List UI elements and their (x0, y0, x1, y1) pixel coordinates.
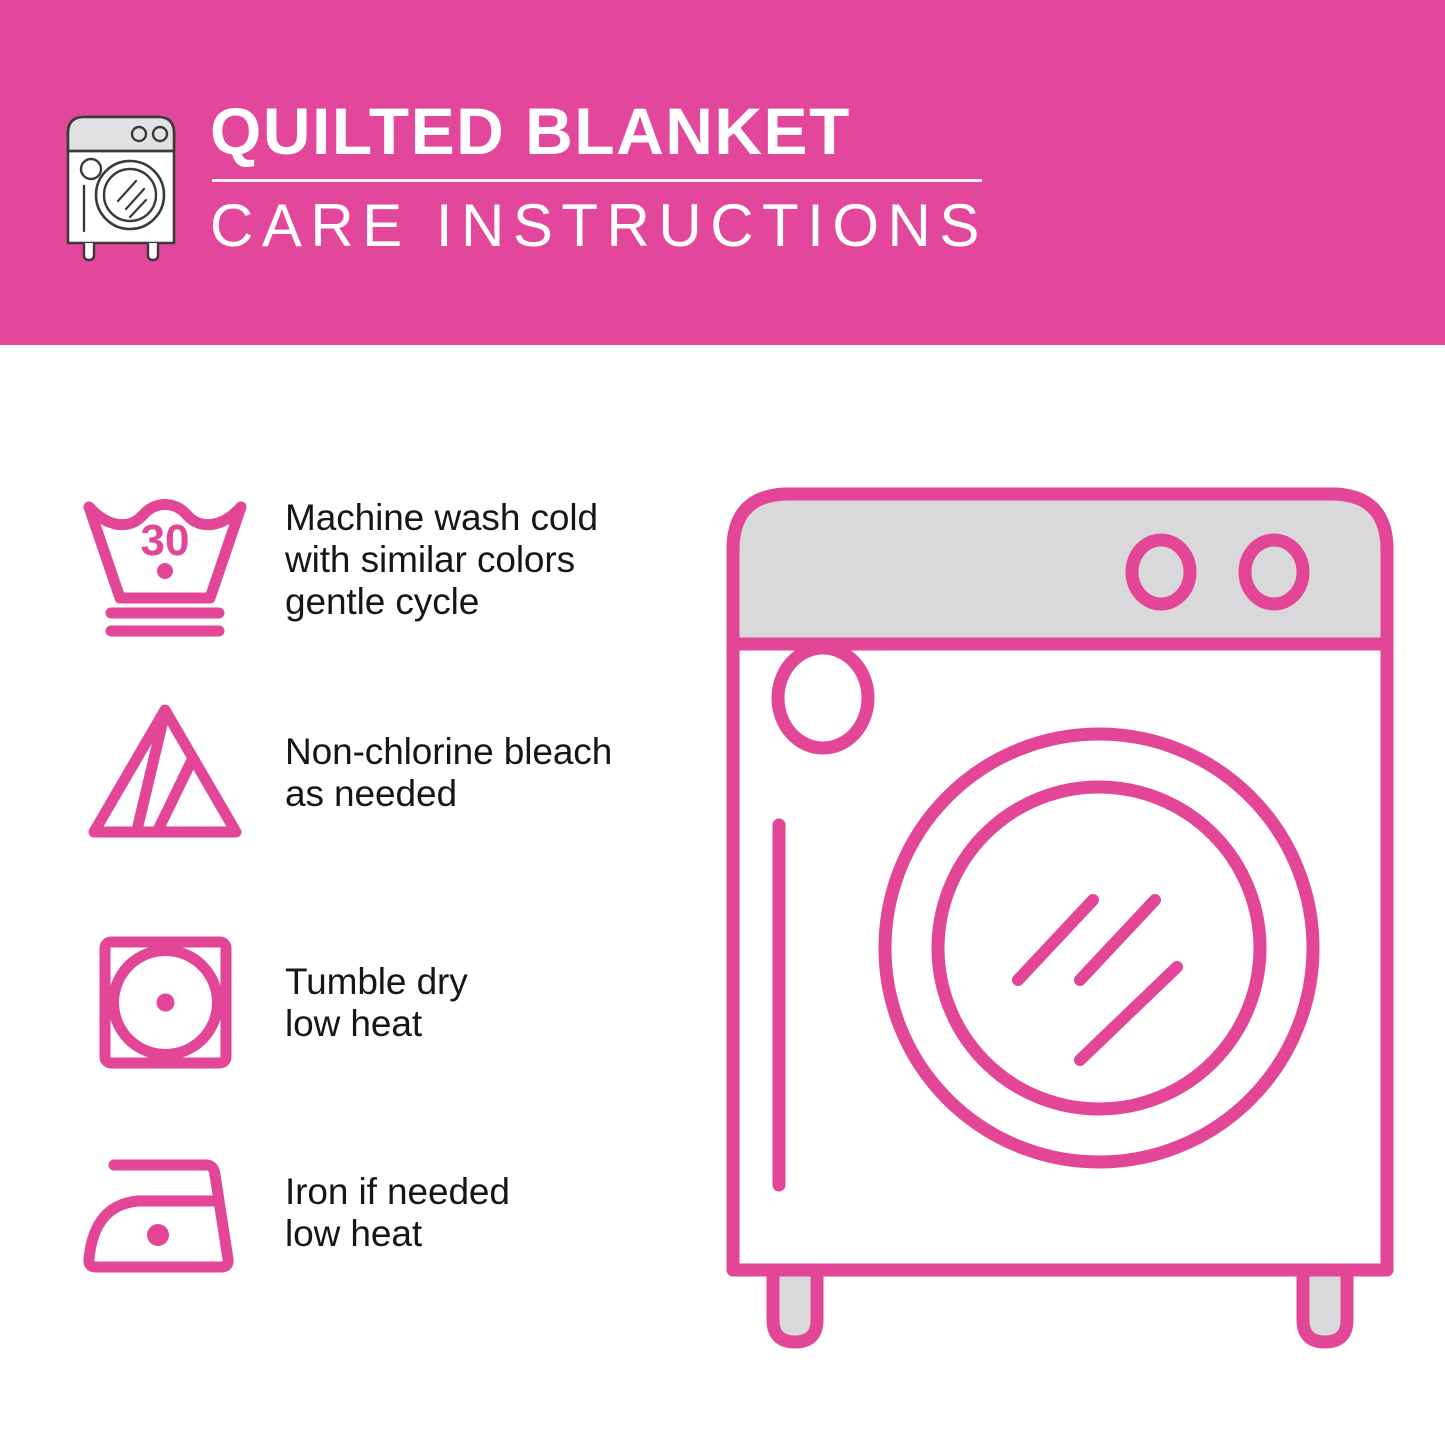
care-row: Non-chlorine bleach as needed (70, 685, 690, 860)
care-text-line: Machine wash cold (285, 497, 598, 539)
header-content: QUILTED BLANKET CARE INSTRUCTIONS (60, 95, 988, 263)
tumble-dry-low-heat-icon (70, 930, 260, 1075)
header-text-block: QUILTED BLANKET CARE INSTRUCTIONS (210, 95, 988, 260)
care-row: Iron if needed low heat (70, 1130, 690, 1295)
top-control-panel (733, 494, 1387, 644)
care-text-block: Non-chlorine bleach as needed (285, 731, 612, 815)
washing-machine-icon (60, 103, 182, 263)
front-load-washing-machine-illustration (725, 480, 1395, 1370)
care-text-line: gentle cycle (285, 581, 598, 623)
care-text-block: Iron if needed low heat (285, 1171, 510, 1255)
wash-temperature-value: 30 (141, 516, 190, 565)
care-text-line: Iron if needed (285, 1171, 510, 1213)
care-text-block: Machine wash cold with similar colors ge… (285, 497, 598, 623)
care-text-line: low heat (285, 1003, 468, 1045)
care-text-line: as needed (285, 773, 612, 815)
page-title: QUILTED BLANKET (210, 95, 988, 167)
page-header: QUILTED BLANKET CARE INSTRUCTIONS (0, 0, 1445, 345)
care-instructions-page: QUILTED BLANKET CARE INSTRUCTIONS 30 (0, 0, 1445, 1445)
care-text-block: Tumble dry low heat (285, 961, 468, 1045)
care-text-line: Non-chlorine bleach (285, 731, 612, 773)
leg-right (1303, 1270, 1347, 1342)
care-text-line: low heat (285, 1213, 510, 1255)
title-divider (212, 179, 982, 182)
care-row: Tumble dry low heat (70, 920, 690, 1085)
page-subtitle: CARE INSTRUCTIONS (210, 192, 988, 260)
leg-left (773, 1270, 817, 1342)
bleach-triangle-non-chlorine-icon (70, 698, 260, 848)
care-row: 30 Machine wash cold with similar colors… (70, 470, 690, 650)
care-text-line: Tumble dry (285, 961, 468, 1003)
iron-low-heat-icon (70, 1143, 260, 1283)
care-text-line: with similar colors (285, 539, 598, 581)
wash-tub-30-gentle-icon: 30 (70, 483, 260, 638)
